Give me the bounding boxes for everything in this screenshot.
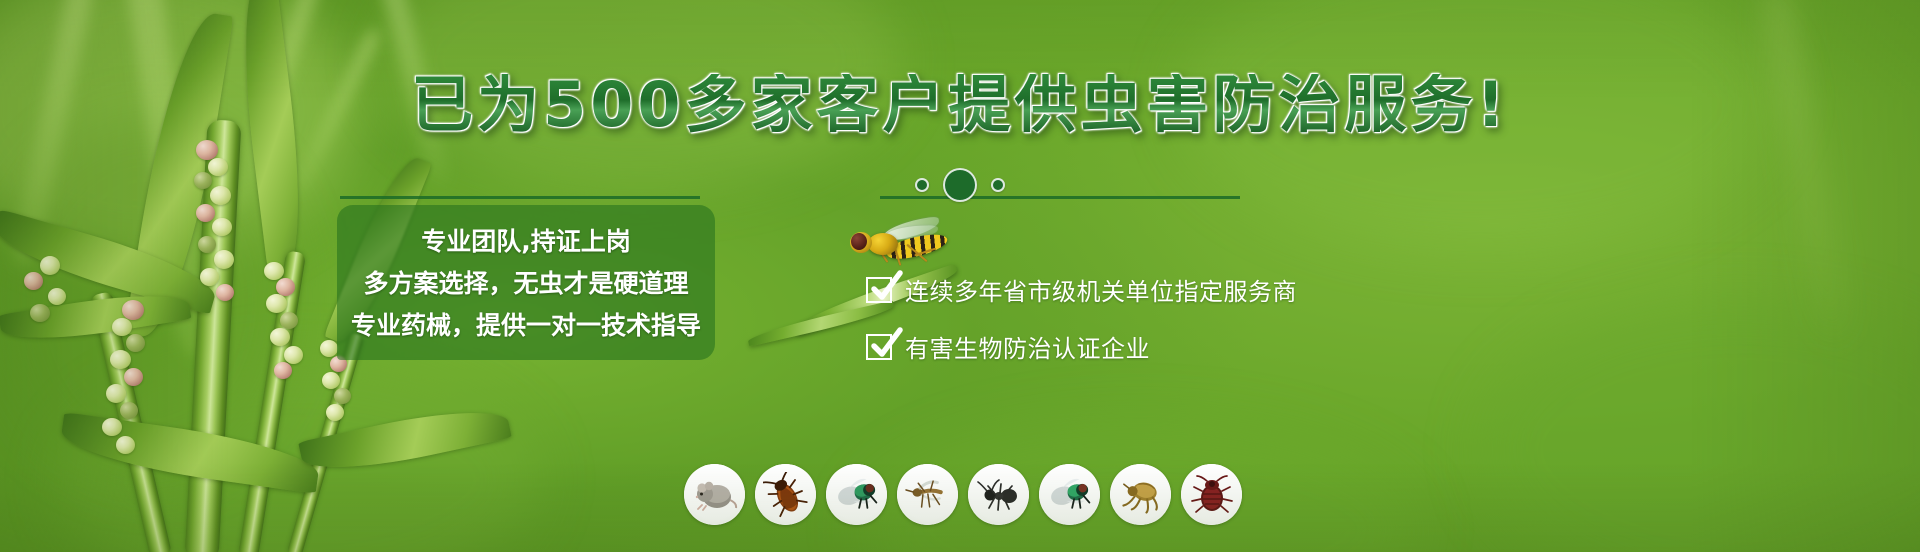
pest-icon-fly[interactable]	[826, 464, 887, 525]
pest-icon-strip	[684, 464, 1242, 525]
decorative-dots	[0, 168, 1920, 202]
checklist-item-label: 有害生物防治认证企业	[905, 329, 1150, 364]
banner-headline: 已为500多家客户提供虫害防治服务!	[0, 74, 1920, 136]
claim-line-3: 专业药械，提供一对一技术指导	[337, 306, 715, 343]
decorative-dot-small-right	[991, 178, 1005, 192]
promo-banner: 已为500多家客户提供虫害防治服务! 专业团队,持证上岗 多方案选择，无虫才是硬…	[0, 0, 1920, 552]
checklist-item-label: 连续多年省市级机关单位指定服务商	[905, 272, 1297, 307]
pest-icon-cockroach[interactable]	[755, 464, 816, 525]
pest-icon-mosquito[interactable]	[897, 464, 958, 525]
claim-line-2: 多方案选择，无虫才是硬道理	[337, 264, 715, 306]
pest-icon-flea[interactable]	[1110, 464, 1171, 525]
checkbox-checked-icon	[866, 334, 892, 360]
decorative-dot-large	[943, 168, 977, 202]
checklist-item: 连续多年省市级机关单位指定服务商	[866, 272, 1297, 307]
pest-icon-ant[interactable]	[968, 464, 1029, 525]
pest-icon-bedbug[interactable]	[1181, 464, 1242, 525]
checklist-item: 有害生物防治认证企业	[866, 329, 1297, 364]
claims-panel: 专业团队,持证上岗 多方案选择，无虫才是硬道理 专业药械，提供一对一技术指导	[337, 205, 715, 360]
pest-icon-housefly[interactable]	[1039, 464, 1100, 525]
checkbox-checked-icon	[866, 277, 892, 303]
claim-line-1: 专业团队,持证上岗	[337, 222, 715, 264]
background-bokeh	[1480, 300, 1920, 552]
pest-icon-mouse[interactable]	[684, 464, 745, 525]
decorative-dot-small-left	[915, 178, 929, 192]
certification-checklist: 连续多年省市级机关单位指定服务商 有害生物防治认证企业	[866, 272, 1297, 364]
